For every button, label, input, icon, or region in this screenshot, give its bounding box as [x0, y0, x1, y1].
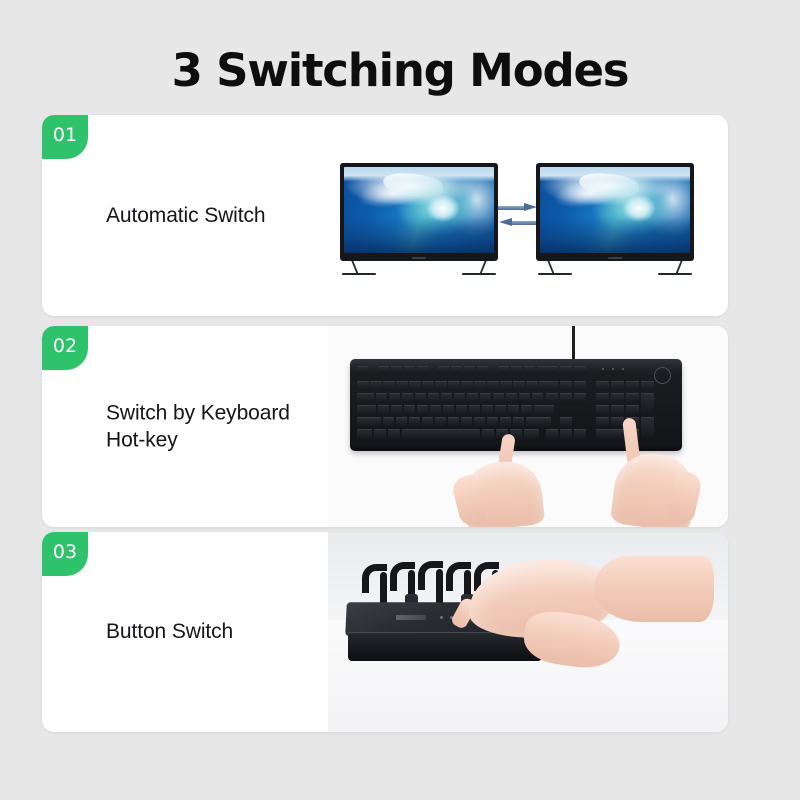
key-navigation[interactable]	[574, 393, 586, 403]
key-qwerty-row[interactable]	[402, 393, 414, 403]
key-number-row[interactable]	[487, 381, 499, 391]
key-number-row[interactable]	[474, 381, 486, 391]
key-number-row[interactable]	[383, 381, 395, 391]
key-home-row[interactable]	[469, 405, 481, 415]
key-qwerty-row[interactable]	[441, 393, 453, 403]
key-print-screen[interactable]	[546, 366, 558, 374]
key-escape[interactable]	[357, 366, 368, 374]
key-numpad-zero[interactable]	[596, 429, 624, 439]
key-right-ctrl[interactable]	[524, 429, 539, 439]
card-label-button-switch: Button Switch	[106, 618, 233, 646]
key-navigation[interactable]	[574, 381, 586, 391]
key-home-row[interactable]	[495, 405, 507, 415]
key-number-row[interactable]	[409, 381, 421, 391]
key-home-row[interactable]	[404, 405, 416, 415]
key-arrow-right[interactable]	[574, 429, 586, 439]
key-zxcv-row[interactable]	[422, 417, 434, 427]
kvm-switch-illustration	[328, 532, 728, 732]
key-function[interactable]	[391, 366, 402, 374]
wave-deep-water	[344, 217, 494, 253]
key-number-row[interactable]	[396, 381, 408, 391]
key-number-row[interactable]	[370, 381, 382, 391]
key-zxcv-row[interactable]	[487, 417, 499, 427]
tv-right-foot-right	[658, 273, 692, 275]
tv-left-stand	[340, 261, 498, 275]
key-home-row-modifier[interactable]	[534, 405, 554, 415]
key-numpad[interactable]	[611, 381, 624, 391]
tv-right-body	[536, 163, 694, 261]
key-home-row[interactable]	[508, 405, 520, 415]
key-numpad[interactable]	[611, 405, 624, 415]
tv-left-brand-mark	[412, 257, 426, 259]
key-numpad[interactable]	[626, 381, 639, 391]
key-numpad-enter[interactable]	[641, 417, 654, 439]
tv-right-brand-mark	[608, 257, 622, 259]
key-navigation[interactable]	[546, 393, 558, 403]
key-qwerty-row-modifier[interactable]	[357, 393, 374, 403]
key-number-row[interactable]	[461, 381, 473, 391]
key-numpad[interactable]	[596, 405, 609, 415]
key-home-row[interactable]	[430, 405, 442, 415]
key-function[interactable]	[451, 366, 462, 374]
key-numpad[interactable]	[641, 381, 654, 391]
keyboard-illustration	[328, 326, 728, 527]
key-zxcv-row-modifier[interactable]	[526, 417, 551, 427]
wave-deep-water	[540, 217, 690, 253]
key-zxcv-row[interactable]	[396, 417, 408, 427]
key-qwerty-row[interactable]	[376, 393, 388, 403]
key-numpad-plus[interactable]	[641, 393, 654, 415]
switch-arrows	[498, 203, 540, 233]
key-qwerty-row[interactable]	[467, 393, 479, 403]
key-qwerty-row[interactable]	[428, 393, 440, 403]
key-function[interactable]	[511, 366, 522, 374]
badge-03: 03	[42, 532, 88, 576]
key-function[interactable]	[477, 366, 488, 374]
tv-right-screen	[540, 167, 690, 253]
hand-wrist	[594, 556, 714, 622]
tv-left	[340, 163, 498, 275]
key-function[interactable]	[438, 366, 449, 374]
keyboard-led-3	[622, 368, 624, 370]
key-navigation[interactable]	[546, 381, 558, 391]
key-navigation[interactable]	[560, 381, 572, 391]
key-function[interactable]	[417, 366, 428, 374]
key-number-row[interactable]	[513, 381, 525, 391]
key-numpad[interactable]	[611, 393, 624, 403]
key-numpad[interactable]	[626, 405, 639, 415]
card-label-keyboard-hotkey: Switch by Keyboard Hot-key	[106, 399, 290, 454]
key-number-row[interactable]	[357, 381, 369, 391]
badge-01: 01	[42, 115, 88, 159]
arrow-right-shaft	[498, 206, 525, 210]
dell-logo-icon	[654, 367, 671, 384]
key-zxcv-row[interactable]	[435, 417, 447, 427]
key-qwerty-row[interactable]	[480, 393, 492, 403]
key-home-row[interactable]	[482, 405, 494, 415]
key-function[interactable]	[524, 366, 535, 374]
key-zxcv-row[interactable]	[513, 417, 525, 427]
tv-right-foot-left	[538, 273, 572, 275]
key-qwerty-row[interactable]	[415, 393, 427, 403]
key-navigation[interactable]	[560, 393, 572, 403]
key-right-alt[interactable]	[482, 429, 494, 439]
key-arrow-up[interactable]	[560, 417, 572, 427]
key-qwerty-row[interactable]	[454, 393, 466, 403]
key-arrow-left[interactable]	[546, 429, 558, 439]
tv-right	[536, 163, 694, 275]
key-home-row[interactable]	[456, 405, 468, 415]
key-numpad[interactable]	[596, 417, 609, 427]
badge-02: 02	[42, 326, 88, 370]
key-numpad[interactable]	[626, 393, 639, 403]
key-zxcv-row[interactable]	[500, 417, 512, 427]
key-qwerty-row[interactable]	[532, 393, 544, 403]
arrow-left-head	[499, 218, 512, 226]
tv-left-foot-left	[342, 273, 376, 275]
key-home-row[interactable]	[521, 405, 533, 415]
key-function[interactable]	[498, 366, 509, 374]
tv-right-stand	[536, 261, 694, 275]
key-zxcv-row[interactable]	[448, 417, 460, 427]
key-numpad[interactable]	[596, 393, 609, 403]
tv-left-foot-right	[462, 273, 496, 275]
key-zxcv-row[interactable]	[474, 417, 486, 427]
tv-left-screen	[344, 167, 494, 253]
key-arrow-down[interactable]	[560, 429, 572, 439]
key-zxcv-row[interactable]	[409, 417, 421, 427]
key-left-alt[interactable]	[388, 429, 400, 439]
key-home-row[interactable]	[378, 405, 390, 415]
key-number-row[interactable]	[448, 381, 460, 391]
keyboard-led-1	[602, 368, 604, 370]
key-number-row[interactable]	[526, 381, 538, 391]
key-function[interactable]	[404, 366, 415, 374]
ugreen-logo	[396, 615, 426, 620]
key-space[interactable]	[402, 429, 480, 439]
key-pause[interactable]	[574, 366, 586, 374]
key-scroll-lock[interactable]	[560, 366, 572, 374]
arrow-right-icon	[498, 203, 538, 212]
card-label-automatic-switch: Automatic Switch	[106, 202, 265, 230]
key-left-win[interactable]	[374, 429, 386, 439]
key-qwerty-row[interactable]	[506, 393, 518, 403]
mode-card-automatic-switch[interactable]: 01 Automatic Switch	[42, 115, 728, 316]
key-home-row-modifier[interactable]	[357, 405, 376, 415]
key-home-row[interactable]	[417, 405, 429, 415]
mode-card-button-switch[interactable]: 03 Button Switch	[42, 532, 728, 732]
key-qwerty-row[interactable]	[493, 393, 505, 403]
page-title: 3 Switching Modes	[0, 44, 800, 97]
kvm-front-panel	[348, 633, 542, 661]
key-zxcv-row[interactable]	[461, 417, 473, 427]
key-numpad[interactable]	[596, 381, 609, 391]
key-home-row[interactable]	[391, 405, 403, 415]
keyboard-cable	[572, 326, 575, 360]
key-number-row[interactable]	[500, 381, 512, 391]
keyboard-led-2	[612, 368, 614, 370]
key-function[interactable]	[464, 366, 475, 374]
key-home-row[interactable]	[443, 405, 455, 415]
arrow-left-icon	[498, 218, 538, 227]
tv-pair-illustration	[328, 115, 728, 316]
kvm-led-1	[440, 616, 443, 619]
key-zxcv-row[interactable]	[383, 417, 395, 427]
key-number-row[interactable]	[422, 381, 434, 391]
key-qwerty-row[interactable]	[389, 393, 401, 403]
key-number-row[interactable]	[435, 381, 447, 391]
key-zxcv-row-modifier[interactable]	[357, 417, 381, 427]
mode-card-keyboard-hotkey[interactable]: 02 Switch by Keyboard Hot-key	[42, 326, 728, 527]
arrow-left-shaft	[511, 221, 538, 225]
tv-left-body	[340, 163, 498, 261]
key-qwerty-row[interactable]	[519, 393, 531, 403]
key-function[interactable]	[378, 366, 389, 374]
key-left-ctrl[interactable]	[357, 429, 372, 439]
